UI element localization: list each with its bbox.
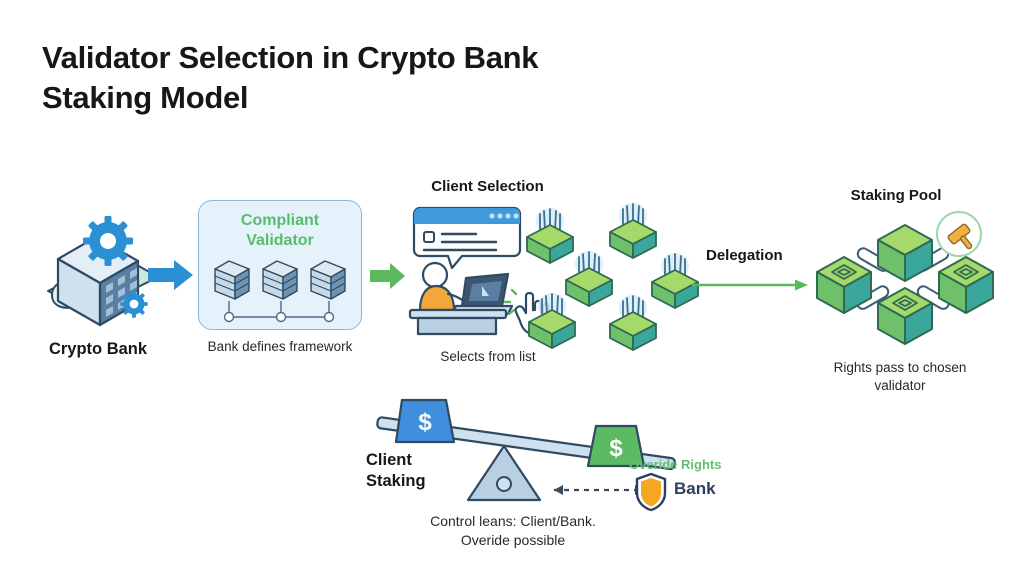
bank-building-gear-icon [34, 215, 164, 335]
validator-node-6[interactable] [606, 292, 660, 352]
gear-small-icon [120, 290, 148, 318]
crypto-bank-label: Crypto Bank [24, 339, 172, 360]
dashed-double-arrow-icon [554, 485, 644, 495]
delegation-label: Delegation [706, 247, 783, 264]
blue-money-weight-icon: $ [396, 400, 454, 442]
gavel-badge[interactable] [935, 210, 983, 258]
client-staking-label-line-1: Client [366, 451, 412, 469]
arrow-green-right [370, 262, 406, 290]
page-title: Validator Selection in Crypto Bank Staki… [42, 38, 682, 117]
bank-shield [634, 472, 668, 512]
shield-icon [634, 472, 668, 512]
staking-pool-caption: Rights pass to chosen validator [800, 359, 1000, 395]
staking-pool-caption-line-1: Rights pass to chosen [834, 360, 967, 375]
override-rights-label: Overide Rights [629, 457, 721, 472]
client-selection-heading: Client Selection [400, 178, 575, 195]
compliant-validator-caption: Bank defines framework [190, 338, 370, 356]
staking-pool-heading: Staking Pool [806, 187, 986, 204]
gear-icon [83, 216, 133, 266]
compliant-validator-title-line-2: Validator [246, 232, 314, 249]
triangle-fulcrum-icon [468, 446, 540, 500]
bank-label: Bank [674, 479, 716, 499]
chat-window-icon [414, 208, 520, 268]
infographic-canvas: Validator Selection in Crypto Bank Staki… [0, 0, 1024, 585]
compliant-validator-title: Compliant Validator [199, 211, 361, 251]
compliant-validator-panel: Compliant Validator [198, 200, 362, 330]
gavel-icon[interactable] [935, 210, 983, 258]
blue-right-arrow-icon [148, 258, 194, 292]
green-line-arrow-icon [692, 278, 810, 292]
svg-text:$: $ [418, 409, 432, 436]
arrow-blue-right [148, 258, 194, 292]
green-right-arrow-icon [370, 262, 406, 290]
delegation-arrow [692, 278, 810, 292]
balance-caption: Control leans: Client/Bank. Overide poss… [368, 512, 658, 550]
validator-node-5[interactable] [525, 290, 579, 350]
validator-node-cube-icon[interactable] [606, 292, 660, 352]
balance-caption-line-1: Control leans: Client/Bank. [430, 513, 596, 529]
validator-node-cube-icon[interactable] [525, 290, 579, 350]
server-rack-cluster-icon [211, 257, 351, 325]
crypto-bank-group [34, 215, 164, 335]
page-title-line-1: Validator Selection in Crypto Bank [42, 38, 682, 78]
staking-pool-caption-line-2: validator [874, 378, 925, 393]
compliant-validator-title-line-1: Compliant [241, 212, 319, 229]
client-selection-caption: Selects from list [398, 348, 578, 366]
client-staking-label-line-2: Staking [366, 472, 426, 490]
balance-caption-line-2: Overide possible [461, 532, 565, 548]
svg-text:$: $ [609, 435, 623, 462]
page-title-line-2: Staking Model [42, 78, 682, 118]
client-staking-label: Client Staking [366, 450, 456, 491]
